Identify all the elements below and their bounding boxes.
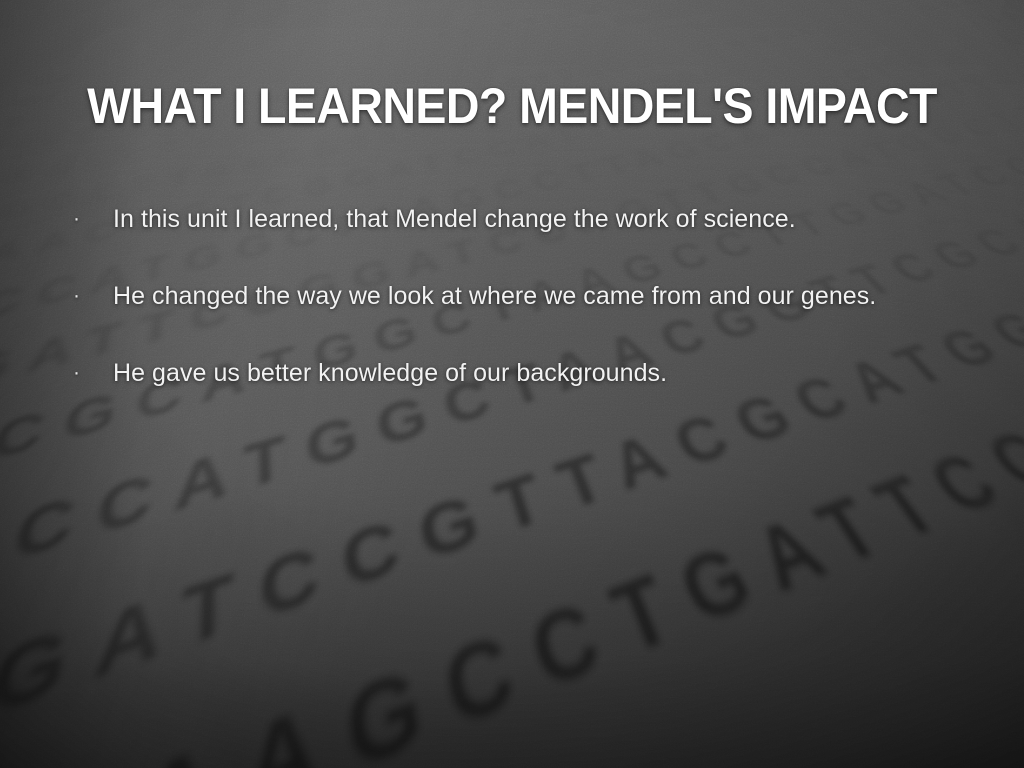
list-item: · He gave us better knowledge of our bac…: [64, 357, 1008, 391]
bullet-point-icon: ·: [64, 357, 113, 389]
bullet-text: He changed the way we look at where we c…: [113, 280, 1008, 312]
bullet-text: He gave us better knowledge of our backg…: [113, 357, 1008, 389]
list-item: · In this unit I learned, that Mendel ch…: [64, 203, 1008, 237]
slide-content: WHAT I LEARNED? MENDEL'S IMPACT · In thi…: [0, 0, 1024, 768]
list-item: · He changed the way we look at where we…: [64, 280, 1008, 314]
bullet-point-icon: ·: [64, 203, 113, 235]
bullet-list: · In this unit I learned, that Mendel ch…: [64, 203, 1008, 391]
bullet-point-icon: ·: [64, 280, 113, 312]
presentation-slide: GATCCGTAGGCTTAGCATGCTAGGCATCGATTGCAGCTAA…: [0, 0, 1024, 768]
slide-title: WHAT I LEARNED? MENDEL'S IMPACT: [36, 78, 988, 134]
bullet-text: In this unit I learned, that Mendel chan…: [113, 203, 1008, 235]
